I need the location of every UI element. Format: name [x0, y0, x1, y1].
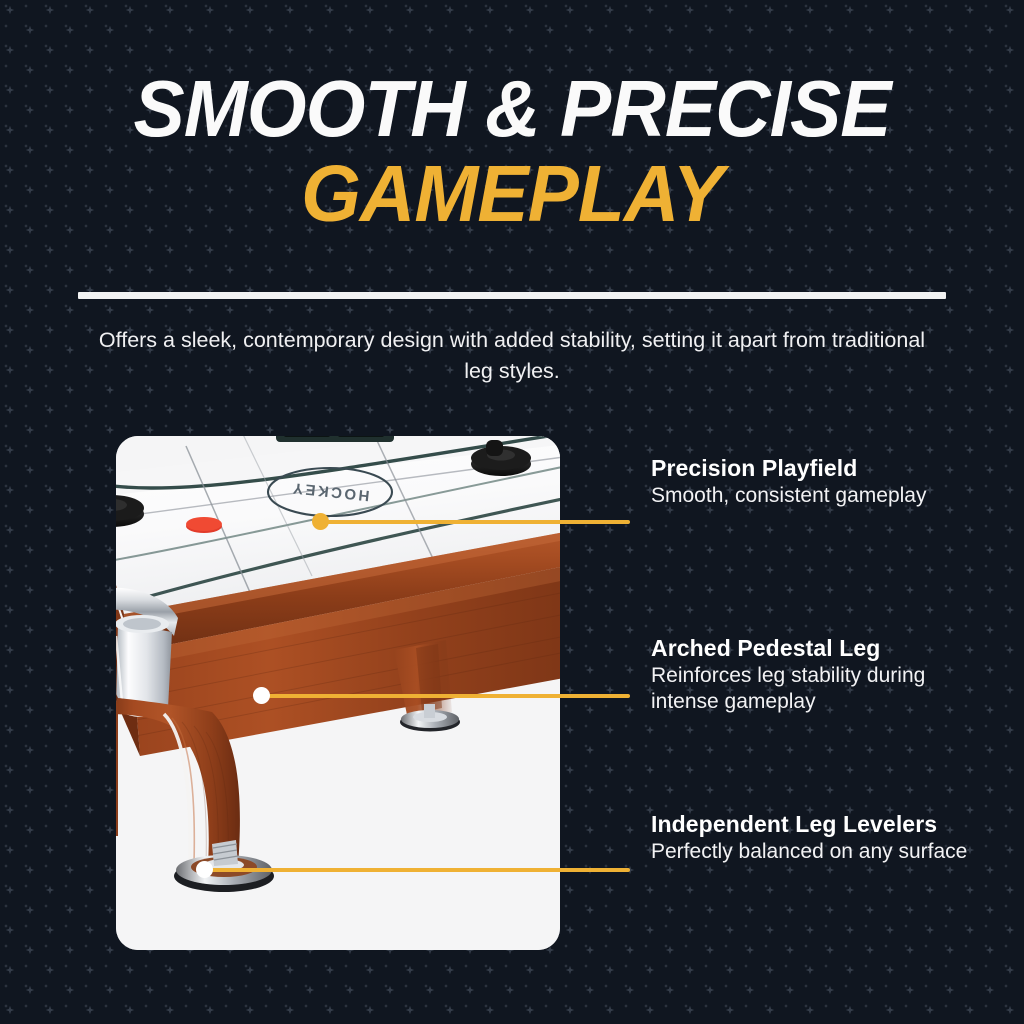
product-image-card: HOCKEY — [116, 436, 560, 950]
air-hockey-table-illustration: HOCKEY — [116, 436, 560, 950]
callout-title-1: Precision Playfield — [651, 455, 981, 482]
callout-connector-line-1 — [322, 520, 630, 524]
callout-desc-2: Reinforces leg stability during intense … — [651, 663, 981, 715]
callout-connector-line-2 — [262, 694, 630, 698]
callout-connector-line-3 — [205, 868, 630, 872]
page-subtitle: Offers a sleek, contemporary design with… — [95, 325, 929, 386]
title-divider — [78, 292, 946, 299]
callout-independent-leg-levelers: Independent Leg Levelers Perfectly balan… — [651, 811, 981, 865]
callout-precision-playfield: Precision Playfield Smooth, consistent g… — [651, 455, 981, 509]
callout-arched-pedestal-leg: Arched Pedestal Leg Reinforces leg stabi… — [651, 635, 981, 715]
callout-desc-3: Perfectly balanced on any surface — [651, 839, 981, 865]
header: SMOOTH & PRECISE GAMEPLAY — [0, 70, 1024, 234]
callout-marker-dot-3 — [196, 861, 213, 878]
callout-desc-1: Smooth, consistent gameplay — [651, 483, 981, 509]
callout-marker-dot-1 — [312, 513, 329, 530]
callout-title-3: Independent Leg Levelers — [651, 811, 981, 838]
callout-title-2: Arched Pedestal Leg — [651, 635, 981, 662]
page-title-line2: GAMEPLAY — [20, 154, 1003, 234]
page-title-line1: SMOOTH & PRECISE — [20, 70, 1003, 148]
callout-marker-dot-2 — [253, 687, 270, 704]
